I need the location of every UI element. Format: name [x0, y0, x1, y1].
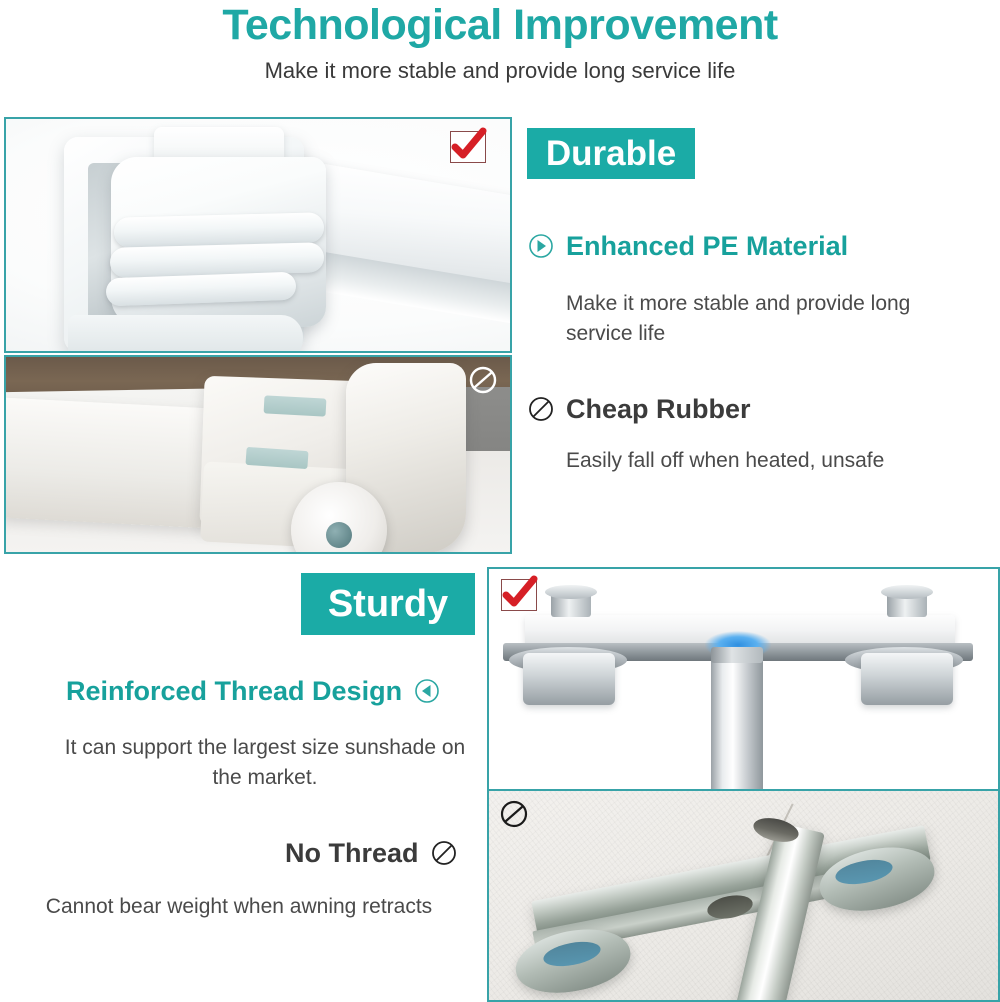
- feature-no-thread: No Thread: [285, 836, 457, 870]
- check-mark-icon: [450, 131, 486, 163]
- badge-sturdy-label: Sturdy: [328, 583, 448, 626]
- feature-cheap-rubber-label: Cheap Rubber: [566, 392, 751, 426]
- feature-enhanced-pe-material-label: Enhanced PE Material: [566, 229, 848, 263]
- white-pe-bracket-image: [6, 119, 510, 351]
- check-mark-icon: [501, 579, 537, 611]
- page-title: Technological Improvement: [0, 0, 1000, 52]
- feature-no-thread-body: Cannot bear weight when awning retracts: [8, 892, 470, 922]
- prohibited-icon: [528, 396, 554, 422]
- feature-cheap-rubber-body: Easily fall off when heated, unsafe: [566, 446, 966, 476]
- circle-right-arrow-icon: [528, 233, 554, 259]
- cheap-rubber-bracket-image: [6, 357, 510, 552]
- prohibited-mark-icon: [499, 799, 529, 829]
- badge-sturdy: Sturdy: [301, 573, 475, 635]
- threaded-rod-bracket-image: [489, 569, 998, 791]
- infographic-root: Technological Improvement Make it more s…: [0, 0, 1000, 1000]
- prohibited-mark-icon: [468, 365, 498, 395]
- white-pe-bracket-photo: [4, 117, 512, 353]
- no-thread-rod-bracket-image: [489, 791, 998, 1000]
- circle-left-arrow-icon: [414, 678, 440, 704]
- feature-no-thread-label: No Thread: [285, 836, 419, 870]
- threaded-rod-bracket-photo: [487, 567, 1000, 793]
- feature-cheap-rubber: Cheap Rubber: [528, 392, 751, 426]
- badge-durable-label: Durable: [546, 134, 676, 174]
- prohibited-icon: [431, 840, 457, 866]
- no-thread-rod-bracket-photo: [487, 789, 1000, 1002]
- page-subtitle: Make it more stable and provide long ser…: [0, 56, 1000, 86]
- feature-enhanced-pe-material: Enhanced PE Material: [528, 229, 848, 263]
- feature-reinforced-thread-design-label: Reinforced Thread Design: [66, 674, 402, 708]
- cheap-rubber-bracket-photo: [4, 355, 512, 554]
- feature-enhanced-pe-material-body: Make it more stable and provide long ser…: [566, 289, 926, 349]
- feature-reinforced-thread-design: Reinforced Thread Design: [66, 674, 440, 708]
- feature-reinforced-thread-design-body: It can support the largest size sunshade…: [60, 733, 470, 793]
- badge-durable: Durable: [527, 128, 695, 179]
